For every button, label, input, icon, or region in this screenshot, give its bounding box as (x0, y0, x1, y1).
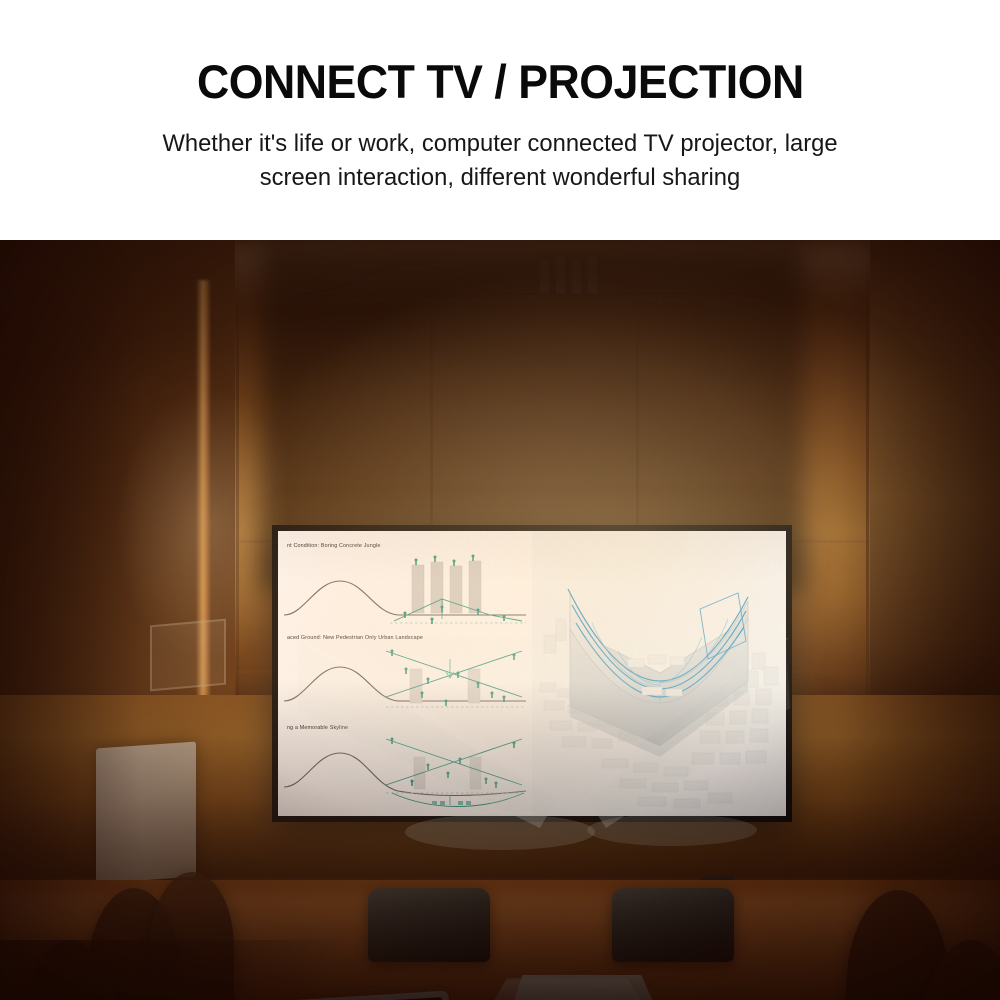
right-wall (870, 240, 1000, 710)
wall-seam (866, 240, 869, 710)
projection-screen[interactable]: nt Condition: Boring Concrete Jungle ace… (272, 525, 792, 822)
slide-left-panel: nt Condition: Boring Concrete Jungle ace… (278, 531, 532, 816)
product-feature-banner: CONNECT TV / PROJECTION Whether it's lif… (0, 0, 1000, 1000)
spill-graphic (288, 248, 778, 310)
page-title: CONNECT TV / PROJECTION (197, 58, 804, 105)
chair-back-center-left[interactable] (368, 888, 490, 962)
wall-panel-frame (150, 619, 226, 692)
page-subtitle: Whether it's life or work, computer conn… (83, 127, 917, 195)
slide-diagram-1 (282, 553, 528, 631)
slide-right-panel (532, 531, 786, 816)
whiteboard (96, 742, 196, 884)
slide-diagram-2 (282, 645, 528, 721)
banner-header: CONNECT TV / PROJECTION Whether it's lif… (0, 0, 1000, 240)
chair-back-center-right[interactable] (612, 888, 734, 962)
subtitle-line-2: screen interaction, different wonderful … (83, 161, 917, 195)
projection-spill (288, 248, 778, 310)
table-left-shading (0, 940, 340, 1000)
projection-screen-surface: nt Condition: Boring Concrete Jungle ace… (278, 531, 786, 816)
scene-photo: nt Condition: Boring Concrete Jungle ace… (0, 240, 1000, 1000)
slide-row-label-3: ng a Memorable Skyline (287, 725, 348, 731)
massing-model-render (532, 531, 786, 816)
subtitle-line-1: Whether it's life or work, computer conn… (83, 127, 917, 161)
laptop[interactable]: Current Condition: Boring Concrete Jungl… (262, 996, 452, 1000)
slide-diagram-3 (282, 735, 528, 815)
slide-row-label-1: nt Condition: Boring Concrete Jungle (287, 543, 381, 549)
slide-row-label-2: aced Ground: New Pedestrian Only Urban L… (287, 635, 423, 641)
